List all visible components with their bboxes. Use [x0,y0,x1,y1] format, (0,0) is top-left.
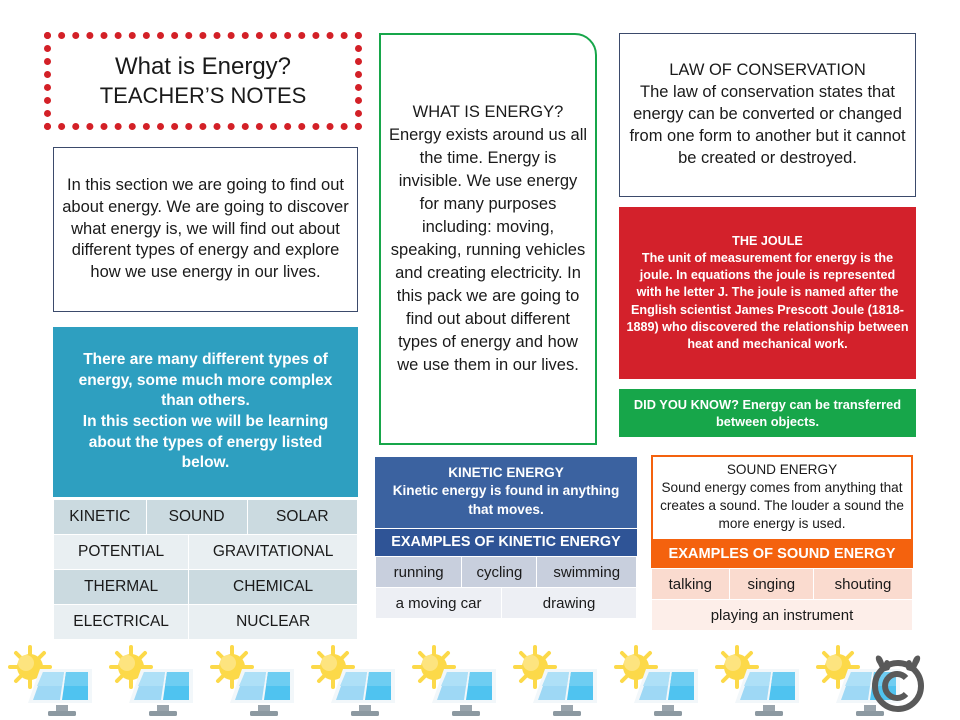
table-cell: drawing [502,588,637,619]
sound-examples-table-body: talkingsingingshoutingplaying an instrum… [652,569,913,631]
law-of-conservation-body: The law of conservation states that ener… [629,83,905,167]
table-row: playing an instrument [652,600,913,631]
table-cell: swimming [537,557,637,588]
sound-energy-description: Sound energy comes from anything that cr… [660,480,904,531]
sound-energy-heading: SOUND ENERGY [727,462,837,477]
the-joule-heading: THE JOULE [732,234,803,248]
solar-panel-with-sun-icon [101,645,202,720]
solar-panel-with-sun-icon [404,645,505,720]
page-subtitle: TEACHER’S NOTES [100,82,307,110]
table-row: talkingsingingshouting [652,569,913,600]
energy-types-table-body: KINETICSOUNDSOLARPOTENTIALGRAVITATIONALT… [54,500,358,640]
what-is-energy-box: WHAT IS ENERGY?Energy exists around us a… [379,33,597,445]
table-cell: talking [652,569,730,600]
table-cell: KINETIC [54,500,147,535]
table-cell: THERMAL [54,570,189,605]
the-joule-box: THE JOULEThe unit of measurement for ene… [619,207,916,379]
kinetic-examples-table: runningcyclingswimminga moving cardrawin… [375,556,637,619]
sound-energy-header: SOUND ENERGYSound energy comes from anyt… [651,455,913,541]
solar-panel-with-sun-icon [707,645,808,720]
solar-panel-with-sun-icon [202,645,303,720]
table-cell: running [376,557,462,588]
table-cell: POTENTIAL [54,535,189,570]
copyright-moose-logo-icon [862,650,934,714]
sound-examples-label: EXAMPLES OF SOUND ENERGY [651,541,913,568]
page-title: What is Energy? [115,52,291,82]
the-joule-text: THE JOULEThe unit of measurement for ene… [626,233,909,353]
table-cell: SOUND [146,500,247,535]
table-row: runningcyclingswimming [376,557,637,588]
table-row: THERMALCHEMICAL [54,570,358,605]
intro-text: In this section we are going to find out… [62,175,349,284]
solar-panel-with-sun-icon [505,645,606,720]
table-cell: ELECTRICAL [54,605,189,640]
law-of-conservation-box: LAW OF CONSERVATIONThe law of conservati… [619,33,916,197]
table-cell: GRAVITATIONAL [189,535,358,570]
table-cell: SOLAR [247,500,357,535]
kinetic-energy-panel: KINETIC ENERGYKinetic energy is found in… [375,457,637,619]
solar-panel-with-sun-icon [303,645,404,720]
table-cell: cycling [462,557,537,588]
page-title-box: What is Energy? TEACHER’S NOTES [44,32,362,130]
sound-energy-panel: SOUND ENERGYSound energy comes from anyt… [651,455,913,631]
table-cell: singing [729,569,813,600]
energy-types-table: KINETICSOUNDSOLARPOTENTIALGRAVITATIONALT… [53,499,358,640]
did-you-know-text: DID YOU KNOW? Energy can be transferred … [627,396,908,430]
kinetic-examples-label: EXAMPLES OF KINETIC ENERGY [375,528,637,556]
types-intro-panel: There are many different types of energy… [53,327,358,497]
table-cell: a moving car [376,588,502,619]
table-cell: CHEMICAL [189,570,358,605]
types-intro-text: There are many different types of energy… [63,350,348,474]
sound-examples-table: talkingsingingshoutingplaying an instrum… [651,568,913,631]
table-cell: shouting [813,569,912,600]
kinetic-examples-table-body: runningcyclingswimminga moving cardrawin… [376,557,637,619]
kinetic-energy-header: KINETIC ENERGYKinetic energy is found in… [375,457,637,528]
table-cell: playing an instrument [652,600,913,631]
law-of-conservation-text: LAW OF CONSERVATIONThe law of conservati… [628,60,907,170]
what-is-energy-heading: WHAT IS ENERGY? [413,103,564,121]
kinetic-energy-description: Kinetic energy is found in anything that… [393,483,620,516]
intro-text-box: In this section we are going to find out… [53,147,358,312]
law-of-conservation-heading: LAW OF CONSERVATION [669,61,866,79]
table-row: ELECTRICALNUCLEAR [54,605,358,640]
solar-panel-with-sun-icon [606,645,707,720]
what-is-energy-body: Energy exists around us all the time. En… [389,126,587,373]
table-row: KINETICSOUNDSOLAR [54,500,358,535]
solar-panel-with-sun-icon [0,645,101,720]
did-you-know-box: DID YOU KNOW? Energy can be transferred … [619,389,916,437]
table-cell: NUCLEAR [189,605,358,640]
solar-panel-decoration-strip [0,645,960,720]
the-joule-body: The unit of measurement for energy is th… [626,251,908,351]
what-is-energy-text: WHAT IS ENERGY?Energy exists around us a… [387,101,589,376]
kinetic-energy-heading: KINETIC ENERGY [448,465,564,480]
worksheet-page: What is Energy? TEACHER’S NOTES In this … [0,0,960,720]
table-row: a moving cardrawing [376,588,637,619]
table-row: POTENTIALGRAVITATIONAL [54,535,358,570]
